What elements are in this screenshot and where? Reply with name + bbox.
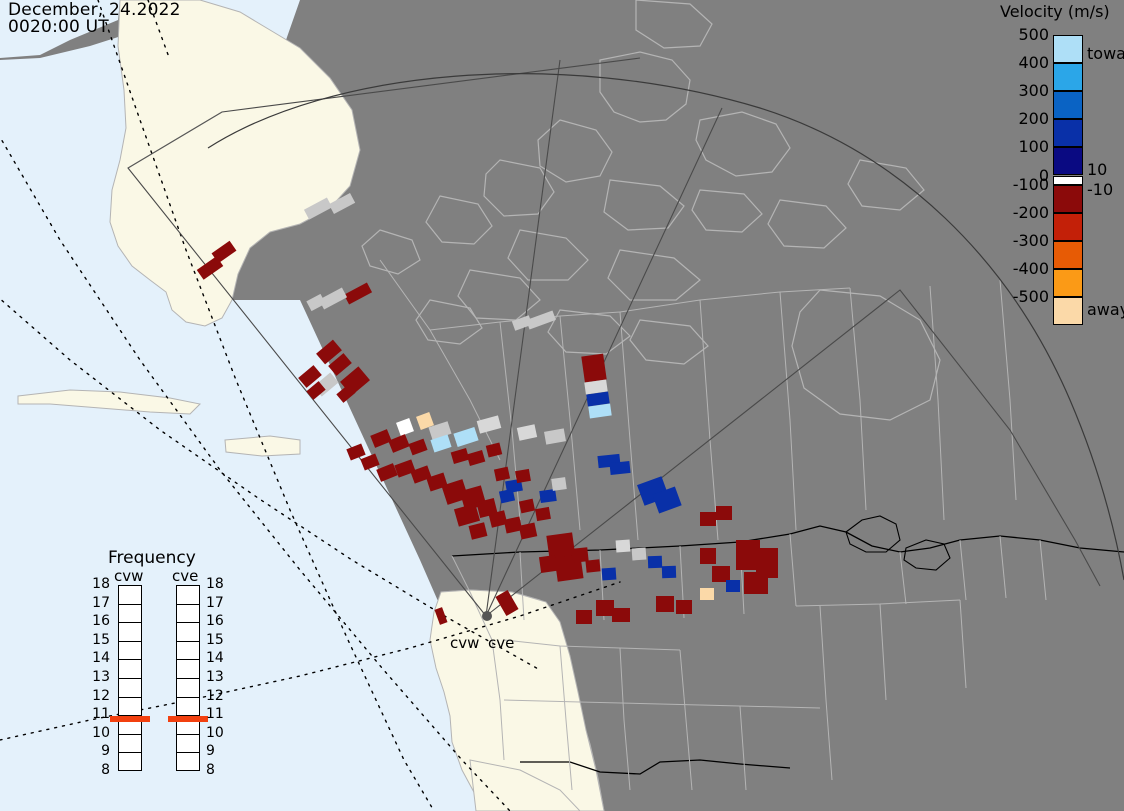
frequency-segment (119, 679, 141, 698)
frequency-segment (177, 753, 199, 772)
colorbar-negative-threshold-label: -10 (1087, 180, 1113, 199)
frequency-scale-cvw[interactable] (118, 585, 142, 771)
frequency-segment (119, 735, 141, 754)
frequency-radar-name-cve: cve (172, 567, 198, 585)
frequency-tick: 15 (206, 632, 230, 648)
colorbar-band[interactable] (1053, 119, 1083, 147)
frequency-segment (177, 605, 199, 624)
radar-cell[interactable] (632, 548, 647, 561)
frequency-tick: 16 (86, 613, 110, 629)
radar-cell[interactable] (585, 559, 600, 572)
frequency-segment (119, 586, 141, 605)
frequency-tick: 17 (206, 595, 230, 611)
radar-cell[interactable] (700, 512, 716, 526)
radar-site-marker[interactable] (482, 611, 492, 621)
colorbar-tick: -200 (1004, 203, 1049, 222)
frequency-segment (119, 623, 141, 642)
radar-cell[interactable] (596, 600, 614, 616)
frequency-tick: 18 (206, 576, 230, 592)
frequency-tick: 10 (206, 725, 230, 741)
colorbar-band[interactable] (1053, 63, 1083, 91)
colorbar-tick: -100 (1004, 175, 1049, 194)
frequency-tick: 8 (86, 762, 110, 778)
radar-cell[interactable] (712, 566, 730, 582)
colorbar-band[interactable] (1053, 176, 1083, 185)
radar-cell[interactable] (700, 588, 714, 600)
colorbar-band[interactable] (1053, 269, 1083, 297)
frequency-tick: 13 (86, 669, 110, 685)
colorbar-tick: 500 (1004, 25, 1049, 44)
frequency-tick: 14 (86, 650, 110, 666)
colorbar-tick: -300 (1004, 231, 1049, 250)
frequency-segment (177, 623, 199, 642)
frequency-segment (177, 679, 199, 698)
radar-cell[interactable] (662, 566, 676, 578)
colorbar-band[interactable] (1053, 241, 1083, 269)
frequency-tick: 17 (86, 595, 110, 611)
frequency-segment (119, 698, 141, 717)
colorbar-band[interactable] (1053, 213, 1083, 241)
radar-cell[interactable] (726, 580, 740, 592)
frequency-segment (177, 642, 199, 661)
radar-cell[interactable] (539, 555, 557, 573)
colorbar-band[interactable] (1053, 147, 1083, 175)
frequency-tick: 15 (86, 632, 110, 648)
colorbar-band[interactable] (1053, 297, 1083, 325)
frequency-tick: 14 (206, 650, 230, 666)
colorbar-band[interactable] (1053, 185, 1083, 213)
radar-cell[interactable] (576, 610, 592, 624)
frequency-segment (177, 586, 199, 605)
colorbar-tick: 100 (1004, 137, 1049, 156)
radar-cell[interactable] (612, 608, 630, 622)
radar-cell[interactable] (551, 477, 567, 491)
frequency-tick: 18 (86, 576, 110, 592)
radar-cell[interactable] (616, 540, 631, 553)
radar-cell[interactable] (515, 469, 531, 483)
radar-cell[interactable] (535, 507, 551, 521)
radar-fan-plot: December, 24.2022 0020:00 UT Velocity (m… (0, 0, 1124, 811)
frequency-tick: 9 (206, 743, 230, 759)
frequency-marker-cvw[interactable] (110, 716, 150, 722)
colorbar-tick: 200 (1004, 109, 1049, 128)
frequency-tick: 8 (206, 762, 230, 778)
frequency-marker-cve[interactable] (168, 716, 208, 722)
colorbar-away-label: away (1087, 300, 1124, 319)
frequency-tick: 10 (86, 725, 110, 741)
radar-cell[interactable] (676, 600, 692, 614)
radar-cell[interactable] (539, 489, 557, 503)
colorbar-band[interactable] (1053, 35, 1083, 63)
frequency-segment (177, 735, 199, 754)
radar-cell[interactable] (744, 572, 768, 594)
landmass-island-small (225, 436, 300, 456)
plot-time-label: 0020:00 UT (8, 17, 109, 37)
frequency-tick: 11 (206, 706, 230, 722)
frequency-tick: 12 (86, 688, 110, 704)
radar-cell[interactable] (581, 354, 606, 383)
frequency-segment (119, 753, 141, 772)
colorbar-tick: -500 (1004, 287, 1049, 306)
velocity-colorbar[interactable] (1053, 35, 1083, 325)
frequency-radar-name-cvw: cvw (114, 567, 143, 585)
site-label-cvw: cvw (450, 634, 479, 652)
radar-cell[interactable] (716, 506, 732, 520)
frequency-segment (177, 660, 199, 679)
frequency-legend-title: Frequency (108, 548, 196, 568)
frequency-segment (119, 660, 141, 679)
radar-cell[interactable] (609, 461, 630, 475)
radar-cell[interactable] (571, 547, 588, 563)
radar-cell[interactable] (602, 568, 617, 581)
frequency-segment (119, 642, 141, 661)
site-label-cve: cve (488, 634, 514, 652)
frequency-scale-cve[interactable] (176, 585, 200, 771)
frequency-tick: 13 (206, 669, 230, 685)
colorbar-band[interactable] (1053, 91, 1083, 119)
colorbar-toward-label: toward (1087, 44, 1124, 63)
frequency-tick: 11 (86, 706, 110, 722)
map-canvas[interactable] (0, 0, 1124, 811)
frequency-tick: 9 (86, 743, 110, 759)
frequency-tick: 12 (206, 688, 230, 704)
colorbar-positive-threshold-label: 10 (1087, 160, 1107, 179)
colorbar-tick: 300 (1004, 81, 1049, 100)
frequency-segment (177, 698, 199, 717)
radar-cell[interactable] (656, 596, 674, 612)
frequency-segment (119, 605, 141, 624)
colorbar-title: Velocity (m/s) (1000, 2, 1110, 21)
radar-cell[interactable] (700, 548, 716, 564)
colorbar-tick: 400 (1004, 53, 1049, 72)
colorbar-tick: -400 (1004, 259, 1049, 278)
frequency-tick: 16 (206, 613, 230, 629)
radar-cell[interactable] (648, 556, 662, 568)
